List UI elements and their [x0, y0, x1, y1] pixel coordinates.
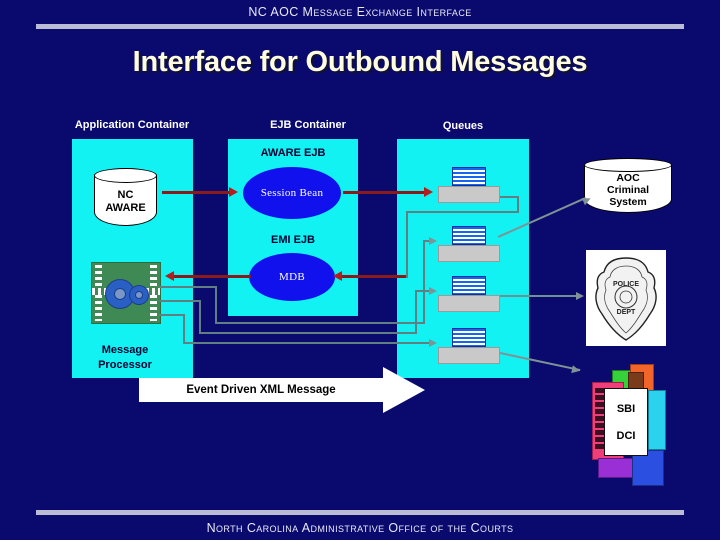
link-queue3-to-police	[500, 295, 578, 297]
label-application-container: Application Container	[62, 119, 202, 131]
queue-tray-icon	[438, 245, 500, 262]
footer-text: North Carolina Administrative Office of …	[0, 521, 720, 535]
arrow-sessionbean-to-queue1-line	[343, 191, 428, 194]
building-cyan	[648, 390, 666, 450]
cylinder-top-ellipse	[94, 168, 157, 183]
nc-aware-database: NC AWARE	[94, 168, 157, 233]
sbi-dci-sign: SBI DCI	[604, 388, 648, 456]
route-q3-c	[199, 332, 417, 334]
link-queue4-to-sbi-head	[571, 365, 580, 374]
page-title: Interface for Outbound Messages	[0, 46, 720, 79]
queue-item-2[interactable]	[438, 226, 500, 262]
session-bean-node: Session Bean	[243, 167, 341, 219]
session-bean-label: Session Bean	[261, 187, 324, 199]
arrow-sessionbean-to-queue1-head	[424, 187, 433, 197]
route-q3-d	[415, 290, 417, 334]
route-q4-head	[429, 339, 437, 347]
aoc-label-line2: Criminal	[584, 184, 672, 196]
route-q3-head	[429, 287, 437, 295]
label-ejb-container: EJB Container	[233, 119, 383, 131]
label-queues: Queues	[400, 120, 526, 132]
queue-paper-stack-icon	[452, 328, 487, 347]
header-rule	[36, 24, 684, 29]
arrow-aware-to-sessionbean-line	[162, 191, 232, 194]
event-driven-banner-label: Event Driven XML Message	[139, 378, 383, 402]
aoc-label-line1: AOC	[584, 172, 672, 184]
route-q4-a	[159, 314, 185, 316]
queue-item-4[interactable]	[438, 328, 500, 364]
queue-tray-icon	[438, 186, 500, 203]
route-q4-c	[183, 342, 431, 344]
mdb-node: MDB	[249, 253, 335, 301]
aoc-label-line3: System	[584, 196, 672, 208]
nc-aware-label-line2: AWARE	[94, 202, 157, 215]
arrow-mdb-to-processor-line	[173, 275, 251, 278]
svg-text:POLICE: POLICE	[613, 281, 639, 288]
police-department-node: POLICE DEPT	[586, 250, 666, 346]
queue-paper-stack-icon	[452, 167, 487, 186]
route-q2-c	[215, 322, 425, 324]
slide-canvas: NC AOC Message Exchange Interface Interf…	[0, 0, 720, 540]
message-processor-label-line2: Processor	[72, 359, 178, 371]
police-badge-icon: POLICE DEPT	[586, 250, 666, 346]
route-q4-b	[183, 314, 185, 344]
arrow-queue-to-mdb-head	[333, 271, 342, 281]
gear-large-icon	[109, 283, 131, 305]
queue-paper-stack-icon	[452, 276, 487, 295]
queue-tray-icon	[438, 347, 500, 364]
aware-ejb-heading: AWARE EJB	[228, 147, 358, 159]
message-processor-label-line1: Message	[72, 344, 178, 356]
queue-item-1[interactable]	[438, 167, 500, 203]
nc-aware-label-line1: NC	[94, 189, 157, 202]
queue-item-3[interactable]	[438, 276, 500, 312]
emi-ejb-heading: EMI EJB	[228, 234, 358, 246]
route-q1-d	[406, 211, 408, 278]
slide-eyebrow-title: NC AOC Message Exchange Interface	[0, 5, 720, 19]
gear-small-icon	[132, 288, 146, 302]
link-queue3-to-police-head	[576, 292, 584, 300]
footer-rule	[36, 510, 684, 515]
arrow-aware-to-sessionbean-head	[229, 187, 238, 197]
sbi-dci-node: SBI DCI	[576, 364, 672, 492]
arrow-queue-to-mdb-line	[341, 275, 407, 278]
arrow-mdb-to-processor-head	[165, 271, 174, 281]
event-driven-banner-arrowhead	[383, 367, 425, 413]
sbi-label: SBI	[617, 403, 635, 415]
dci-label: DCI	[617, 430, 636, 442]
route-q1-c	[406, 211, 519, 213]
svg-text:DEPT: DEPT	[617, 309, 636, 316]
message-processor-icon	[91, 262, 161, 324]
route-q2-d	[423, 240, 425, 324]
route-q3-b	[199, 300, 201, 334]
event-driven-banner: Event Driven XML Message	[139, 378, 383, 402]
route-q3-a	[159, 300, 201, 302]
queue-tray-icon	[438, 295, 500, 312]
building-purple	[598, 458, 634, 478]
route-q2-b	[215, 286, 217, 324]
cylinder-top-ellipse	[584, 158, 672, 172]
queue-paper-stack-icon	[452, 226, 487, 245]
mdb-label: MDB	[279, 271, 305, 283]
route-q2-a	[159, 286, 217, 288]
route-q2-head	[429, 237, 437, 245]
aoc-criminal-system-node: AOC Criminal System	[584, 158, 672, 220]
